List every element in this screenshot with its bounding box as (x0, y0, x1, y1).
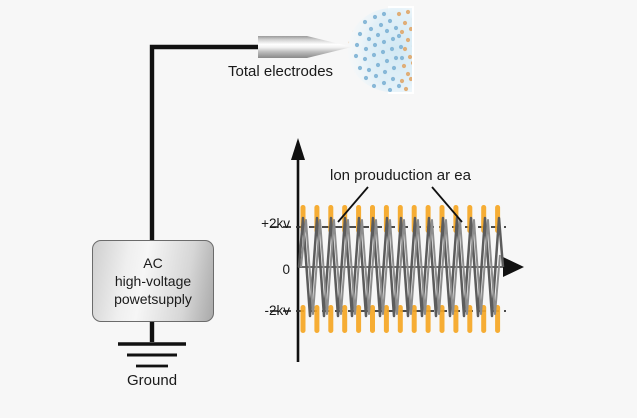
power-supply-box: AC high-voltage powetsupply (92, 240, 214, 322)
power-supply-line-2: high-voltage (115, 272, 191, 290)
diagram-canvas: Total electrodes lon prouduction ar ea G… (0, 0, 637, 418)
ground-symbol-icon (118, 344, 186, 366)
electrode-nozzle-icon (258, 36, 352, 58)
y-axis-tick-positive: +2kv (230, 216, 290, 231)
y-axis-tick-negative: -2kv (230, 303, 290, 318)
power-supply-line-3: powetsupply (114, 290, 192, 308)
ground-label: Ground (127, 372, 177, 390)
ion-production-area-annotation: lon prouduction ar ea (330, 167, 471, 185)
y-axis-tick-zero: 0 (230, 262, 290, 277)
ion-cloud-icon (343, 6, 421, 94)
electrode-label: Total electrodes (228, 63, 333, 81)
power-supply-line-1: AC (143, 254, 162, 272)
